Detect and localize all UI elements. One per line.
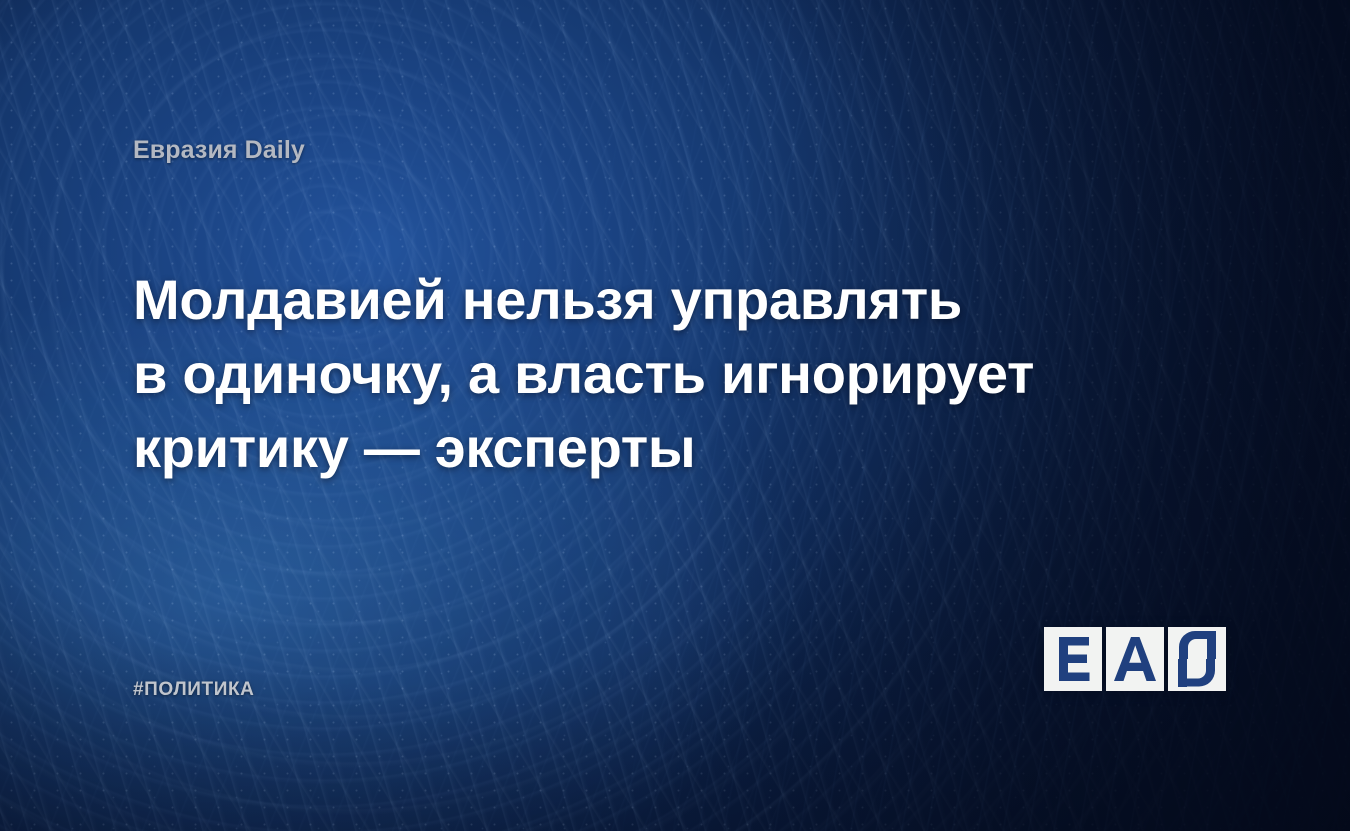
logo-tile-a-icon [1106,627,1164,691]
logo-tile-e-icon [1044,627,1102,691]
news-card: Евразия Daily Молдавией нельзя управлять… [0,0,1350,831]
eadaily-logo[interactable] [1044,627,1226,691]
page-title: Молдавией нельзя управлять в одиночку, а… [133,263,1053,485]
logo-tile-d-stylized-icon [1168,627,1226,691]
category-tag[interactable]: #ПОЛИТИКА [133,679,255,701]
brand-wordmark: Евразия Daily [133,136,305,165]
